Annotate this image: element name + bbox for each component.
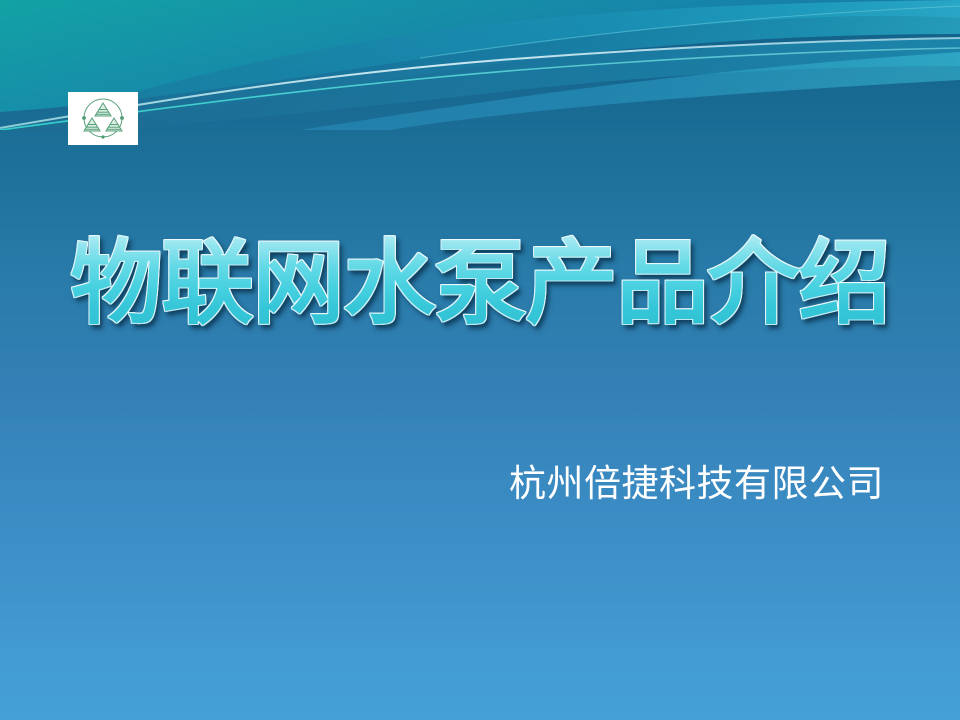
three-pyramids-in-circle-icon (75, 97, 131, 141)
title-slide: 物联网水泵产品介绍 物联网水泵产品介绍 杭州倍捷科技有限公司 (0, 0, 960, 720)
wave-hairline-cyan (0, 48, 960, 130)
wave-hairline-pale (0, 38, 960, 128)
company-logo (68, 92, 138, 145)
decorative-wave-band (0, 0, 960, 130)
slide-subtitle: 杭州倍捷科技有限公司 (509, 462, 884, 506)
wave-teal-corner (0, 0, 960, 112)
wave-ribbon-dark (0, 38, 960, 130)
wave-ribbon-main (0, 0, 960, 130)
slide-subtitle-container: 杭州倍捷科技有限公司 (0, 462, 884, 506)
page-title: 物联网水泵产品介绍 (70, 232, 889, 335)
slide-title-container: 物联网水泵产品介绍 (0, 232, 960, 335)
wave-ribbon-light (300, 52, 960, 130)
wave-hairline-upper (420, 6, 960, 58)
